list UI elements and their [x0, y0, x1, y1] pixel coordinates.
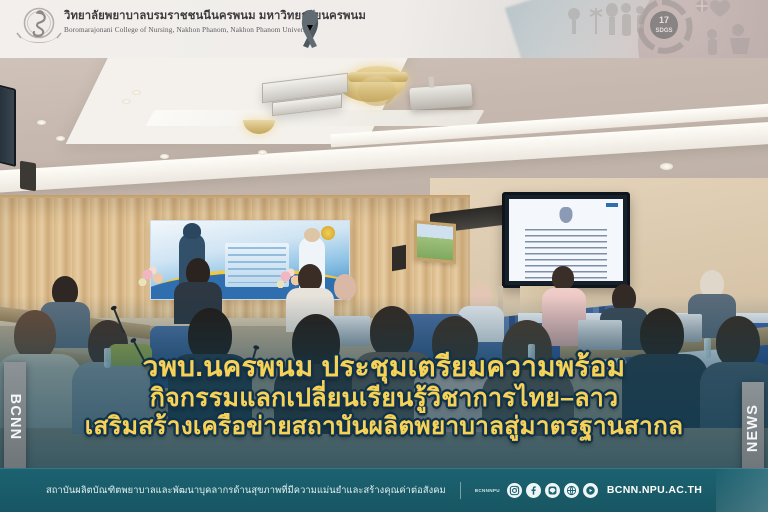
sdg-badge-number: 17: [659, 15, 669, 25]
computer-monitor: [578, 320, 622, 350]
footer-mini-brand: BCNNNPU: [475, 488, 500, 493]
footer-divider: [460, 482, 461, 499]
website-globe-icon[interactable]: [564, 483, 579, 498]
line-icon[interactable]: [545, 483, 560, 498]
wall-speaker: [392, 245, 406, 271]
bcnn-circular-emblem-logo: [14, 4, 64, 52]
water-bottle: [528, 344, 535, 364]
wall-tv-left: [0, 83, 16, 167]
person-presenter-head: [552, 266, 574, 290]
sdg-17-goals-illustration: 17 SDGS: [552, 0, 768, 58]
sdg-badge-label: SDGS: [655, 28, 672, 34]
news-banner-graphic: 17 SDGS วิทยาลัยพยาบาลบรมราชชนนีนครพนม ม…: [0, 0, 768, 512]
footer-tagline: สถาบันผลิตบัณฑิตพยาบาลและพัฒนาบุคลากรด้า…: [46, 483, 446, 498]
flower-arrangement: [134, 264, 168, 290]
banner-footer: สถาบันผลิตบัณฑิตพยาบาลและพัฒนาบุคลากรด้า…: [0, 468, 768, 512]
person-head: [334, 274, 356, 300]
person-head-foreground: [370, 306, 414, 358]
person-body-foreground: [274, 364, 364, 434]
document-seal-graphic: [560, 207, 573, 223]
person-body-foreground: [72, 362, 150, 434]
sidebar-tab-news-label: NEWS: [745, 404, 761, 452]
youtube-icon[interactable]: [583, 483, 598, 498]
person-head-foreground: [640, 308, 684, 360]
instagram-icon[interactable]: [507, 483, 522, 498]
green-bag: [108, 344, 152, 366]
chandelier-light: [358, 76, 396, 106]
water-bottle: [704, 338, 711, 358]
sidebar-tab-bcnn-label: BCNN: [7, 394, 23, 441]
facebook-icon[interactable]: [526, 483, 541, 498]
person-body-foreground: [168, 354, 252, 426]
footer-website-url[interactable]: BCNN.NPU.AC.TH: [607, 484, 702, 496]
water-bottle: [104, 348, 111, 368]
desk-microphone: [249, 348, 257, 370]
footer-corner-accent: [716, 468, 768, 512]
person-body-foreground: [482, 370, 574, 436]
conference-room-meeting-photo: [0, 58, 768, 468]
banner-header: 17 SDGS วิทยาลัยพยาบาลบรมราชชนนีนครพนม ม…: [0, 0, 768, 58]
sidebar-tab-bcnn[interactable]: BCNN: [4, 362, 26, 472]
person-head-foreground: [716, 316, 760, 368]
ceiling-speaker: [20, 161, 36, 192]
tv-logo-mark: [606, 203, 618, 207]
backdrop-seal-icon: [321, 226, 335, 240]
person-head-foreground: [14, 310, 56, 360]
person-body-foreground: [622, 354, 708, 428]
framed-landscape-painting: [414, 220, 456, 264]
social-links-row: [507, 483, 598, 498]
ceiling-projector: [409, 84, 472, 110]
black-mourning-ribbon-icon: [292, 6, 328, 48]
sidebar-tab-news[interactable]: NEWS: [742, 382, 764, 474]
